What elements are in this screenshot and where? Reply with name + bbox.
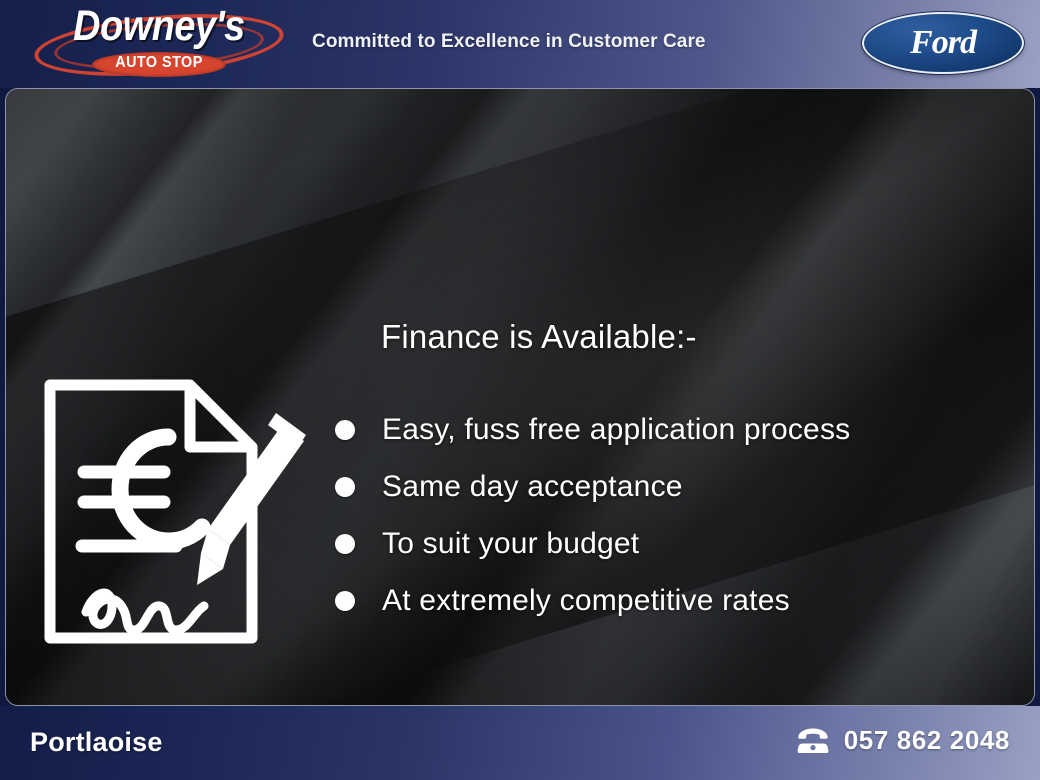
list-item-label: To suit your budget: [382, 527, 639, 561]
logo-brand-sub: AUTO STOP: [99, 54, 220, 72]
list-item-label: Easy, fuss free application process: [382, 413, 850, 447]
bullet-dot-icon: [335, 477, 355, 497]
contact-block[interactable]: 057 862 2048: [796, 725, 1010, 756]
benefits-list: Easy, fuss free application process Same…: [333, 401, 1033, 629]
list-item-label: At extremely competitive rates: [382, 584, 790, 618]
list-item: Same day acceptance: [333, 458, 1033, 515]
list-item: To suit your budget: [333, 515, 1033, 572]
bullet-dot-icon: [335, 420, 355, 440]
header-tagline: Committed to Excellence in Customer Care: [312, 31, 706, 53]
finance-document-euro-signature-icon: [36, 369, 316, 654]
list-item: Easy, fuss free application process: [333, 401, 1033, 458]
banner-footer: Portlaoise 057 862 2048: [0, 706, 1040, 780]
main-content-panel: Finance is Available:- Easy, fuss free a…: [5, 88, 1035, 706]
list-item: At extremely competitive rates: [333, 572, 1033, 629]
ford-wordmark: Ford: [862, 12, 1024, 74]
dealership-finance-banner: Downey's AUTO STOP Committed to Excellen…: [0, 0, 1040, 780]
bullet-dot-icon: [335, 591, 355, 611]
logo-brand-name: Downey's: [44, 4, 275, 49]
list-item-label: Same day acceptance: [382, 470, 683, 504]
phone-number[interactable]: 057 862 2048: [844, 725, 1010, 756]
telephone-icon: [796, 727, 830, 755]
page-title: Finance is Available:-: [381, 318, 697, 356]
downeys-logo[interactable]: Downey's AUTO STOP: [28, 2, 290, 86]
ford-logo[interactable]: Ford: [862, 12, 1024, 74]
dealership-location: Portlaoise: [30, 727, 163, 758]
bullet-dot-icon: [335, 534, 355, 554]
banner-header: Downey's AUTO STOP Committed to Excellen…: [0, 0, 1040, 88]
